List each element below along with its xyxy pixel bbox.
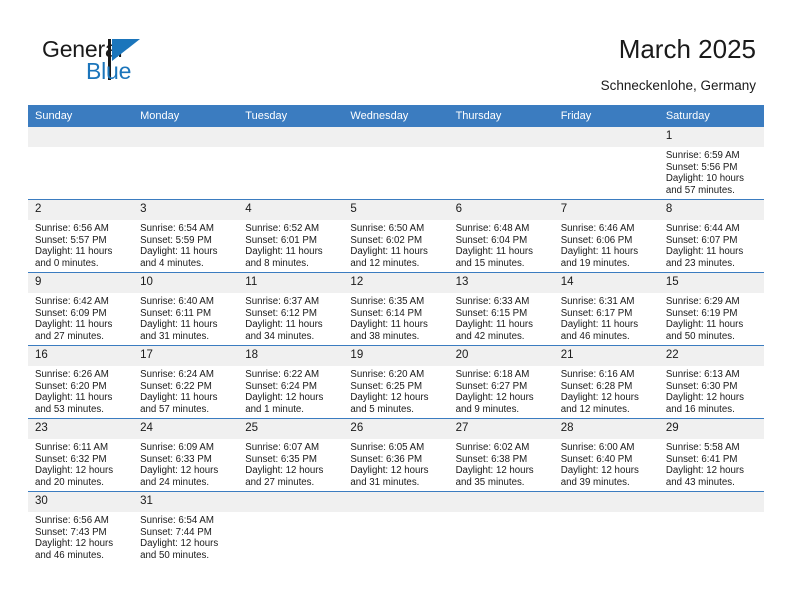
sunrise-time: Sunrise: 6:35 AM bbox=[350, 296, 442, 308]
day-sun-info: Sunrise: 6:16 AMSunset: 6:28 PMDaylight:… bbox=[554, 366, 659, 415]
day-sun-info: Sunrise: 6:24 AMSunset: 6:22 PMDaylight:… bbox=[133, 366, 238, 415]
daylight-duration-line2: and 31 minutes. bbox=[140, 331, 232, 343]
sunrise-time: Sunrise: 6:56 AM bbox=[35, 515, 127, 527]
day-number bbox=[449, 127, 554, 147]
sunrise-time: Sunrise: 6:54 AM bbox=[140, 515, 232, 527]
day-sun-info: Sunrise: 6:29 AMSunset: 6:19 PMDaylight:… bbox=[659, 293, 764, 342]
calendar-day-cell[interactable]: 15Sunrise: 6:29 AMSunset: 6:19 PMDayligh… bbox=[659, 273, 764, 346]
sunset-time: Sunset: 6:15 PM bbox=[456, 308, 548, 320]
daylight-duration-line2: and 24 minutes. bbox=[140, 477, 232, 489]
day-number: 4 bbox=[238, 200, 343, 220]
daylight-duration-line2: and 27 minutes. bbox=[245, 477, 337, 489]
day-number: 19 bbox=[343, 346, 448, 366]
sunset-time: Sunset: 6:35 PM bbox=[245, 454, 337, 466]
daylight-duration-line1: Daylight: 12 hours bbox=[561, 392, 653, 404]
calendar-empty-cell bbox=[449, 492, 554, 569]
sunset-time: Sunset: 7:44 PM bbox=[140, 527, 232, 539]
calendar-empty-cell bbox=[343, 127, 448, 200]
day-number: 1 bbox=[659, 127, 764, 147]
daylight-duration-line2: and 50 minutes. bbox=[666, 331, 758, 343]
sunrise-time: Sunrise: 6:42 AM bbox=[35, 296, 127, 308]
day-cell-inner: 6Sunrise: 6:48 AMSunset: 6:04 PMDaylight… bbox=[449, 200, 554, 272]
day-number: 21 bbox=[554, 346, 659, 366]
weekday-header-monday: Monday bbox=[133, 105, 238, 127]
daylight-duration-line2: and 34 minutes. bbox=[245, 331, 337, 343]
calendar-empty-cell bbox=[554, 127, 659, 200]
day-cell-inner bbox=[133, 127, 238, 199]
daylight-duration-line1: Daylight: 12 hours bbox=[666, 465, 758, 477]
day-cell-inner bbox=[343, 492, 448, 568]
daylight-duration-line2: and 9 minutes. bbox=[456, 404, 548, 416]
sunset-time: Sunset: 6:14 PM bbox=[350, 308, 442, 320]
sunset-time: Sunset: 6:36 PM bbox=[350, 454, 442, 466]
day-cell-inner: 26Sunrise: 6:05 AMSunset: 6:36 PMDayligh… bbox=[343, 419, 448, 491]
day-sun-info: Sunrise: 6:18 AMSunset: 6:27 PMDaylight:… bbox=[449, 366, 554, 415]
day-sun-info: Sunrise: 6:35 AMSunset: 6:14 PMDaylight:… bbox=[343, 293, 448, 342]
sunset-time: Sunset: 6:41 PM bbox=[666, 454, 758, 466]
daylight-duration-line1: Daylight: 12 hours bbox=[350, 392, 442, 404]
weekday-header-tuesday: Tuesday bbox=[238, 105, 343, 127]
calendar-day-cell[interactable]: 6Sunrise: 6:48 AMSunset: 6:04 PMDaylight… bbox=[449, 200, 554, 273]
sunrise-time: Sunrise: 6:00 AM bbox=[561, 442, 653, 454]
daylight-duration-line1: Daylight: 11 hours bbox=[140, 319, 232, 331]
calendar-day-cell[interactable]: 28Sunrise: 6:00 AMSunset: 6:40 PMDayligh… bbox=[554, 419, 659, 492]
calendar-day-cell[interactable]: 30Sunrise: 6:56 AMSunset: 7:43 PMDayligh… bbox=[28, 492, 133, 569]
sunrise-time: Sunrise: 6:37 AM bbox=[245, 296, 337, 308]
daylight-duration-line1: Daylight: 11 hours bbox=[35, 392, 127, 404]
sunrise-time: Sunrise: 6:11 AM bbox=[35, 442, 127, 454]
sunrise-time: Sunrise: 6:54 AM bbox=[140, 223, 232, 235]
day-cell-inner: 9Sunrise: 6:42 AMSunset: 6:09 PMDaylight… bbox=[28, 273, 133, 345]
day-sun-info: Sunrise: 6:56 AMSunset: 5:57 PMDaylight:… bbox=[28, 220, 133, 269]
day-sun-info: Sunrise: 6:11 AMSunset: 6:32 PMDaylight:… bbox=[28, 439, 133, 488]
day-cell-inner bbox=[238, 492, 343, 568]
calendar-day-cell[interactable]: 13Sunrise: 6:33 AMSunset: 6:15 PMDayligh… bbox=[449, 273, 554, 346]
calendar-empty-cell bbox=[554, 492, 659, 569]
calendar-empty-cell bbox=[238, 127, 343, 200]
daylight-duration-line2: and 20 minutes. bbox=[35, 477, 127, 489]
calendar-day-cell[interactable]: 5Sunrise: 6:50 AMSunset: 6:02 PMDaylight… bbox=[343, 200, 448, 273]
sunrise-time: Sunrise: 6:44 AM bbox=[666, 223, 758, 235]
sunrise-time: Sunrise: 6:29 AM bbox=[666, 296, 758, 308]
day-number: 17 bbox=[133, 346, 238, 366]
daylight-duration-line2: and 57 minutes. bbox=[140, 404, 232, 416]
day-number: 22 bbox=[659, 346, 764, 366]
day-sun-info: Sunrise: 6:37 AMSunset: 6:12 PMDaylight:… bbox=[238, 293, 343, 342]
daylight-duration-line1: Daylight: 11 hours bbox=[140, 392, 232, 404]
calendar-day-cell[interactable]: 10Sunrise: 6:40 AMSunset: 6:11 PMDayligh… bbox=[133, 273, 238, 346]
sunset-time: Sunset: 6:01 PM bbox=[245, 235, 337, 247]
sunset-time: Sunset: 6:32 PM bbox=[35, 454, 127, 466]
day-sun-info: Sunrise: 6:56 AMSunset: 7:43 PMDaylight:… bbox=[28, 512, 133, 561]
day-sun-info: Sunrise: 6:02 AMSunset: 6:38 PMDaylight:… bbox=[449, 439, 554, 488]
sunset-time: Sunset: 6:19 PM bbox=[666, 308, 758, 320]
day-number: 8 bbox=[659, 200, 764, 220]
daylight-duration-line1: Daylight: 12 hours bbox=[35, 538, 127, 550]
calendar-week-row: 16Sunrise: 6:26 AMSunset: 6:20 PMDayligh… bbox=[28, 346, 764, 419]
day-cell-inner bbox=[28, 127, 133, 199]
day-number: 7 bbox=[554, 200, 659, 220]
sunset-time: Sunset: 6:06 PM bbox=[561, 235, 653, 247]
day-number: 25 bbox=[238, 419, 343, 439]
day-cell-inner: 31Sunrise: 6:54 AMSunset: 7:44 PMDayligh… bbox=[133, 492, 238, 568]
daylight-duration-line2: and 57 minutes. bbox=[666, 185, 758, 197]
sunset-time: Sunset: 6:27 PM bbox=[456, 381, 548, 393]
daylight-duration-line1: Daylight: 12 hours bbox=[140, 538, 232, 550]
day-cell-inner: 7Sunrise: 6:46 AMSunset: 6:06 PMDaylight… bbox=[554, 200, 659, 272]
calendar-day-cell[interactable]: 7Sunrise: 6:46 AMSunset: 6:06 PMDaylight… bbox=[554, 200, 659, 273]
daylight-duration-line1: Daylight: 12 hours bbox=[456, 392, 548, 404]
calendar-day-cell[interactable]: 23Sunrise: 6:11 AMSunset: 6:32 PMDayligh… bbox=[28, 419, 133, 492]
weekday-header-wednesday: Wednesday bbox=[343, 105, 448, 127]
general-blue-logo[interactable]: General Blue bbox=[30, 36, 230, 92]
sunset-time: Sunset: 7:43 PM bbox=[35, 527, 127, 539]
day-cell-inner: 25Sunrise: 6:07 AMSunset: 6:35 PMDayligh… bbox=[238, 419, 343, 491]
daylight-duration-line1: Daylight: 11 hours bbox=[666, 246, 758, 258]
page-title: March 2025 bbox=[619, 34, 756, 64]
calendar-day-cell[interactable]: 26Sunrise: 6:05 AMSunset: 6:36 PMDayligh… bbox=[343, 419, 448, 492]
calendar-week-row: 2Sunrise: 6:56 AMSunset: 5:57 PMDaylight… bbox=[28, 200, 764, 273]
day-sun-info: Sunrise: 6:31 AMSunset: 6:17 PMDaylight:… bbox=[554, 293, 659, 342]
daylight-duration-line1: Daylight: 11 hours bbox=[561, 319, 653, 331]
day-number: 31 bbox=[133, 492, 238, 512]
day-sun-info: Sunrise: 6:05 AMSunset: 6:36 PMDaylight:… bbox=[343, 439, 448, 488]
day-cell-inner: 21Sunrise: 6:16 AMSunset: 6:28 PMDayligh… bbox=[554, 346, 659, 418]
day-cell-inner: 30Sunrise: 6:56 AMSunset: 7:43 PMDayligh… bbox=[28, 492, 133, 568]
day-number: 6 bbox=[449, 200, 554, 220]
daylight-duration-line1: Daylight: 11 hours bbox=[245, 319, 337, 331]
sunset-time: Sunset: 6:20 PM bbox=[35, 381, 127, 393]
day-sun-info: Sunrise: 6:09 AMSunset: 6:33 PMDaylight:… bbox=[133, 439, 238, 488]
day-cell-inner: 10Sunrise: 6:40 AMSunset: 6:11 PMDayligh… bbox=[133, 273, 238, 345]
day-number bbox=[343, 127, 448, 147]
sunrise-time: Sunrise: 6:46 AM bbox=[561, 223, 653, 235]
day-cell-inner bbox=[238, 127, 343, 199]
daylight-duration-line2: and 43 minutes. bbox=[666, 477, 758, 489]
sunrise-time: Sunrise: 6:07 AM bbox=[245, 442, 337, 454]
daylight-duration-line2: and 35 minutes. bbox=[456, 477, 548, 489]
day-number: 20 bbox=[449, 346, 554, 366]
day-cell-inner: 17Sunrise: 6:24 AMSunset: 6:22 PMDayligh… bbox=[133, 346, 238, 418]
daylight-duration-line2: and 23 minutes. bbox=[666, 258, 758, 270]
calendar-day-cell[interactable]: 4Sunrise: 6:52 AMSunset: 6:01 PMDaylight… bbox=[238, 200, 343, 273]
calendar-day-cell[interactable]: 21Sunrise: 6:16 AMSunset: 6:28 PMDayligh… bbox=[554, 346, 659, 419]
daylight-duration-line1: Daylight: 11 hours bbox=[35, 319, 127, 331]
daylight-duration-line2: and 39 minutes. bbox=[561, 477, 653, 489]
daylight-duration-line1: Daylight: 11 hours bbox=[35, 246, 127, 258]
sunrise-time: Sunrise: 6:26 AM bbox=[35, 369, 127, 381]
day-sun-info: Sunrise: 6:40 AMSunset: 6:11 PMDaylight:… bbox=[133, 293, 238, 342]
day-number: 30 bbox=[28, 492, 133, 512]
daylight-duration-line2: and 15 minutes. bbox=[456, 258, 548, 270]
day-number bbox=[238, 127, 343, 147]
daylight-duration-line1: Daylight: 12 hours bbox=[350, 465, 442, 477]
daylight-duration-line2: and 46 minutes. bbox=[561, 331, 653, 343]
daylight-duration-line1: Daylight: 11 hours bbox=[456, 319, 548, 331]
sunrise-time: Sunrise: 6:05 AM bbox=[350, 442, 442, 454]
day-sun-info: Sunrise: 6:46 AMSunset: 6:06 PMDaylight:… bbox=[554, 220, 659, 269]
calendar-day-cell[interactable]: 8Sunrise: 6:44 AMSunset: 6:07 PMDaylight… bbox=[659, 200, 764, 273]
weekday-header-sunday: Sunday bbox=[28, 105, 133, 127]
daylight-duration-line2: and 27 minutes. bbox=[35, 331, 127, 343]
sunset-time: Sunset: 6:04 PM bbox=[456, 235, 548, 247]
daylight-duration-line1: Daylight: 12 hours bbox=[245, 392, 337, 404]
calendar-empty-cell bbox=[133, 127, 238, 200]
sunset-time: Sunset: 6:12 PM bbox=[245, 308, 337, 320]
daylight-duration-line2: and 5 minutes. bbox=[350, 404, 442, 416]
daylight-duration-line2: and 16 minutes. bbox=[666, 404, 758, 416]
day-cell-inner: 4Sunrise: 6:52 AMSunset: 6:01 PMDaylight… bbox=[238, 200, 343, 272]
sunrise-time: Sunrise: 6:16 AM bbox=[561, 369, 653, 381]
day-number: 12 bbox=[343, 273, 448, 293]
daylight-duration-line1: Daylight: 11 hours bbox=[666, 319, 758, 331]
day-cell-inner bbox=[659, 492, 764, 568]
sunrise-time: Sunrise: 6:40 AM bbox=[140, 296, 232, 308]
day-number bbox=[449, 492, 554, 512]
daylight-duration-line1: Daylight: 12 hours bbox=[456, 465, 548, 477]
day-cell-inner: 28Sunrise: 6:00 AMSunset: 6:40 PMDayligh… bbox=[554, 419, 659, 491]
daylight-duration-line1: Daylight: 11 hours bbox=[350, 246, 442, 258]
calendar-day-cell[interactable]: 16Sunrise: 6:26 AMSunset: 6:20 PMDayligh… bbox=[28, 346, 133, 419]
calendar-page: General Blue March 2025 Schneckenlohe, G… bbox=[0, 0, 792, 612]
calendar-day-cell[interactable]: 19Sunrise: 6:20 AMSunset: 6:25 PMDayligh… bbox=[343, 346, 448, 419]
daylight-duration-line2: and 12 minutes. bbox=[350, 258, 442, 270]
calendar-day-cell[interactable]: 1Sunrise: 6:59 AMSunset: 5:56 PMDaylight… bbox=[659, 127, 764, 200]
daylight-duration-line1: Daylight: 12 hours bbox=[666, 392, 758, 404]
sunrise-sunset-calendar: Sunday Monday Tuesday Wednesday Thursday… bbox=[28, 105, 764, 568]
day-cell-inner: 23Sunrise: 6:11 AMSunset: 6:32 PMDayligh… bbox=[28, 419, 133, 491]
calendar-day-cell[interactable]: 29Sunrise: 5:58 AMSunset: 6:41 PMDayligh… bbox=[659, 419, 764, 492]
day-sun-info: Sunrise: 6:13 AMSunset: 6:30 PMDaylight:… bbox=[659, 366, 764, 415]
day-sun-info: Sunrise: 6:48 AMSunset: 6:04 PMDaylight:… bbox=[449, 220, 554, 269]
calendar-week-row: 9Sunrise: 6:42 AMSunset: 6:09 PMDaylight… bbox=[28, 273, 764, 346]
daylight-duration-line1: Daylight: 10 hours bbox=[666, 173, 758, 185]
day-number: 5 bbox=[343, 200, 448, 220]
sunset-time: Sunset: 6:28 PM bbox=[561, 381, 653, 393]
day-number: 3 bbox=[133, 200, 238, 220]
page-subtitle-location: Schneckenlohe, Germany bbox=[601, 78, 756, 94]
day-sun-info: Sunrise: 6:42 AMSunset: 6:09 PMDaylight:… bbox=[28, 293, 133, 342]
sunrise-time: Sunrise: 6:22 AM bbox=[245, 369, 337, 381]
calendar-day-cell[interactable]: 3Sunrise: 6:54 AMSunset: 5:59 PMDaylight… bbox=[133, 200, 238, 273]
calendar-empty-cell bbox=[28, 127, 133, 200]
day-number: 16 bbox=[28, 346, 133, 366]
daylight-duration-line2: and 53 minutes. bbox=[35, 404, 127, 416]
sunrise-time: Sunrise: 6:59 AM bbox=[666, 150, 758, 162]
day-number: 9 bbox=[28, 273, 133, 293]
daylight-duration-line2: and 38 minutes. bbox=[350, 331, 442, 343]
daylight-duration-line2: and 19 minutes. bbox=[561, 258, 653, 270]
day-sun-info: Sunrise: 6:26 AMSunset: 6:20 PMDaylight:… bbox=[28, 366, 133, 415]
sunset-time: Sunset: 6:17 PM bbox=[561, 308, 653, 320]
daylight-duration-line1: Daylight: 11 hours bbox=[245, 246, 337, 258]
day-sun-info: Sunrise: 6:54 AMSunset: 5:59 PMDaylight:… bbox=[133, 220, 238, 269]
day-sun-info: Sunrise: 6:54 AMSunset: 7:44 PMDaylight:… bbox=[133, 512, 238, 561]
sunrise-time: Sunrise: 6:52 AM bbox=[245, 223, 337, 235]
weekday-header-friday: Friday bbox=[554, 105, 659, 127]
day-cell-inner: 11Sunrise: 6:37 AMSunset: 6:12 PMDayligh… bbox=[238, 273, 343, 345]
day-number: 18 bbox=[238, 346, 343, 366]
day-number bbox=[343, 492, 448, 512]
day-cell-inner: 13Sunrise: 6:33 AMSunset: 6:15 PMDayligh… bbox=[449, 273, 554, 345]
daylight-duration-line1: Daylight: 12 hours bbox=[561, 465, 653, 477]
calendar-header-row: Sunday Monday Tuesday Wednesday Thursday… bbox=[28, 105, 764, 127]
day-sun-info: Sunrise: 5:58 AMSunset: 6:41 PMDaylight:… bbox=[659, 439, 764, 488]
sunrise-time: Sunrise: 6:56 AM bbox=[35, 223, 127, 235]
day-number: 13 bbox=[449, 273, 554, 293]
sunset-time: Sunset: 6:09 PM bbox=[35, 308, 127, 320]
day-number bbox=[659, 492, 764, 512]
day-cell-inner: 19Sunrise: 6:20 AMSunset: 6:25 PMDayligh… bbox=[343, 346, 448, 418]
sunrise-time: Sunrise: 6:33 AM bbox=[456, 296, 548, 308]
day-cell-inner: 14Sunrise: 6:31 AMSunset: 6:17 PMDayligh… bbox=[554, 273, 659, 345]
day-number: 11 bbox=[238, 273, 343, 293]
sunset-time: Sunset: 6:24 PM bbox=[245, 381, 337, 393]
day-cell-inner: 20Sunrise: 6:18 AMSunset: 6:27 PMDayligh… bbox=[449, 346, 554, 418]
calendar-day-cell[interactable]: 20Sunrise: 6:18 AMSunset: 6:27 PMDayligh… bbox=[449, 346, 554, 419]
sunset-time: Sunset: 6:11 PM bbox=[140, 308, 232, 320]
day-sun-info: Sunrise: 6:52 AMSunset: 6:01 PMDaylight:… bbox=[238, 220, 343, 269]
daylight-duration-line1: Daylight: 12 hours bbox=[245, 465, 337, 477]
daylight-duration-line1: Daylight: 12 hours bbox=[140, 465, 232, 477]
sunset-time: Sunset: 5:57 PM bbox=[35, 235, 127, 247]
calendar-day-cell[interactable]: 24Sunrise: 6:09 AMSunset: 6:33 PMDayligh… bbox=[133, 419, 238, 492]
day-sun-info: Sunrise: 6:50 AMSunset: 6:02 PMDaylight:… bbox=[343, 220, 448, 269]
day-number bbox=[28, 127, 133, 147]
day-number bbox=[133, 127, 238, 147]
sunrise-time: Sunrise: 6:31 AM bbox=[561, 296, 653, 308]
sunrise-time: Sunrise: 6:48 AM bbox=[456, 223, 548, 235]
day-number: 15 bbox=[659, 273, 764, 293]
sunrise-time: Sunrise: 6:24 AM bbox=[140, 369, 232, 381]
page-header: General Blue March 2025 Schneckenlohe, G… bbox=[0, 0, 792, 104]
day-cell-inner: 1Sunrise: 6:59 AMSunset: 5:56 PMDaylight… bbox=[659, 127, 764, 199]
day-cell-inner: 15Sunrise: 6:29 AMSunset: 6:19 PMDayligh… bbox=[659, 273, 764, 345]
sunrise-time: Sunrise: 6:18 AM bbox=[456, 369, 548, 381]
sunrise-time: Sunrise: 6:13 AM bbox=[666, 369, 758, 381]
day-cell-inner: 5Sunrise: 6:50 AMSunset: 6:02 PMDaylight… bbox=[343, 200, 448, 272]
calendar-body: 1Sunrise: 6:59 AMSunset: 5:56 PMDaylight… bbox=[28, 127, 764, 568]
daylight-duration-line2: and 0 minutes. bbox=[35, 258, 127, 270]
day-number bbox=[238, 492, 343, 512]
day-number: 27 bbox=[449, 419, 554, 439]
calendar-day-cell[interactable]: 9Sunrise: 6:42 AMSunset: 6:09 PMDaylight… bbox=[28, 273, 133, 346]
day-number: 26 bbox=[343, 419, 448, 439]
sunset-time: Sunset: 6:07 PM bbox=[666, 235, 758, 247]
day-cell-inner: 29Sunrise: 5:58 AMSunset: 6:41 PMDayligh… bbox=[659, 419, 764, 491]
daylight-duration-line1: Daylight: 11 hours bbox=[140, 246, 232, 258]
daylight-duration-line2: and 1 minute. bbox=[245, 404, 337, 416]
sunset-time: Sunset: 6:33 PM bbox=[140, 454, 232, 466]
calendar-empty-cell bbox=[343, 492, 448, 569]
daylight-duration-line1: Daylight: 11 hours bbox=[456, 246, 548, 258]
calendar-day-cell[interactable]: 12Sunrise: 6:35 AMSunset: 6:14 PMDayligh… bbox=[343, 273, 448, 346]
sunrise-time: Sunrise: 6:02 AM bbox=[456, 442, 548, 454]
sunset-time: Sunset: 6:30 PM bbox=[666, 381, 758, 393]
calendar-day-cell[interactable]: 14Sunrise: 6:31 AMSunset: 6:17 PMDayligh… bbox=[554, 273, 659, 346]
day-cell-inner: 2Sunrise: 6:56 AMSunset: 5:57 PMDaylight… bbox=[28, 200, 133, 272]
weekday-header-saturday: Saturday bbox=[659, 105, 764, 127]
sunrise-time: Sunrise: 6:50 AM bbox=[350, 223, 442, 235]
day-sun-info: Sunrise: 6:33 AMSunset: 6:15 PMDaylight:… bbox=[449, 293, 554, 342]
day-cell-inner bbox=[449, 127, 554, 199]
daylight-duration-line2: and 12 minutes. bbox=[561, 404, 653, 416]
day-sun-info: Sunrise: 6:20 AMSunset: 6:25 PMDaylight:… bbox=[343, 366, 448, 415]
day-cell-inner: 22Sunrise: 6:13 AMSunset: 6:30 PMDayligh… bbox=[659, 346, 764, 418]
daylight-duration-line2: and 31 minutes. bbox=[350, 477, 442, 489]
daylight-duration-line2: and 42 minutes. bbox=[456, 331, 548, 343]
day-cell-inner: 27Sunrise: 6:02 AMSunset: 6:38 PMDayligh… bbox=[449, 419, 554, 491]
day-number bbox=[554, 127, 659, 147]
day-number: 28 bbox=[554, 419, 659, 439]
calendar-day-cell[interactable]: 27Sunrise: 6:02 AMSunset: 6:38 PMDayligh… bbox=[449, 419, 554, 492]
daylight-duration-line1: Daylight: 11 hours bbox=[561, 246, 653, 258]
day-number bbox=[554, 492, 659, 512]
day-cell-inner: 24Sunrise: 6:09 AMSunset: 6:33 PMDayligh… bbox=[133, 419, 238, 491]
calendar-empty-cell bbox=[238, 492, 343, 569]
day-cell-inner bbox=[343, 127, 448, 199]
sunset-time: Sunset: 6:38 PM bbox=[456, 454, 548, 466]
day-cell-inner: 16Sunrise: 6:26 AMSunset: 6:20 PMDayligh… bbox=[28, 346, 133, 418]
sunrise-time: Sunrise: 6:20 AM bbox=[350, 369, 442, 381]
day-cell-inner bbox=[554, 127, 659, 199]
day-number: 24 bbox=[133, 419, 238, 439]
sunrise-time: Sunrise: 6:09 AM bbox=[140, 442, 232, 454]
sunset-time: Sunset: 5:59 PM bbox=[140, 235, 232, 247]
sunset-time: Sunset: 6:25 PM bbox=[350, 381, 442, 393]
day-cell-inner: 18Sunrise: 6:22 AMSunset: 6:24 PMDayligh… bbox=[238, 346, 343, 418]
day-sun-info: Sunrise: 6:00 AMSunset: 6:40 PMDaylight:… bbox=[554, 439, 659, 488]
daylight-duration-line2: and 50 minutes. bbox=[140, 550, 232, 562]
day-number: 14 bbox=[554, 273, 659, 293]
daylight-duration-line1: Daylight: 12 hours bbox=[35, 465, 127, 477]
day-number: 2 bbox=[28, 200, 133, 220]
day-cell-inner: 12Sunrise: 6:35 AMSunset: 6:14 PMDayligh… bbox=[343, 273, 448, 345]
day-number: 23 bbox=[28, 419, 133, 439]
daylight-duration-line2: and 8 minutes. bbox=[245, 258, 337, 270]
calendar-week-row: 30Sunrise: 6:56 AMSunset: 7:43 PMDayligh… bbox=[28, 492, 764, 569]
day-number: 10 bbox=[133, 273, 238, 293]
calendar-week-row: 23Sunrise: 6:11 AMSunset: 6:32 PMDayligh… bbox=[28, 419, 764, 492]
sunset-time: Sunset: 6:02 PM bbox=[350, 235, 442, 247]
sunset-time: Sunset: 5:56 PM bbox=[666, 162, 758, 174]
calendar-empty-cell bbox=[449, 127, 554, 200]
weekday-header-thursday: Thursday bbox=[449, 105, 554, 127]
logo-text-blue: Blue bbox=[86, 58, 131, 84]
day-cell-inner bbox=[554, 492, 659, 568]
day-sun-info: Sunrise: 6:44 AMSunset: 6:07 PMDaylight:… bbox=[659, 220, 764, 269]
calendar-day-cell[interactable]: 17Sunrise: 6:24 AMSunset: 6:22 PMDayligh… bbox=[133, 346, 238, 419]
day-sun-info: Sunrise: 6:22 AMSunset: 6:24 PMDaylight:… bbox=[238, 366, 343, 415]
day-cell-inner: 8Sunrise: 6:44 AMSunset: 6:07 PMDaylight… bbox=[659, 200, 764, 272]
day-cell-inner bbox=[449, 492, 554, 568]
calendar-day-cell[interactable]: 2Sunrise: 6:56 AMSunset: 5:57 PMDaylight… bbox=[28, 200, 133, 273]
calendar-day-cell[interactable]: 22Sunrise: 6:13 AMSunset: 6:30 PMDayligh… bbox=[659, 346, 764, 419]
day-number: 29 bbox=[659, 419, 764, 439]
daylight-duration-line2: and 4 minutes. bbox=[140, 258, 232, 270]
calendar-day-cell[interactable]: 18Sunrise: 6:22 AMSunset: 6:24 PMDayligh… bbox=[238, 346, 343, 419]
calendar-day-cell[interactable]: 11Sunrise: 6:37 AMSunset: 6:12 PMDayligh… bbox=[238, 273, 343, 346]
sunrise-time: Sunrise: 5:58 AM bbox=[666, 442, 758, 454]
calendar-week-row: 1Sunrise: 6:59 AMSunset: 5:56 PMDaylight… bbox=[28, 127, 764, 200]
calendar-day-cell[interactable]: 31Sunrise: 6:54 AMSunset: 7:44 PMDayligh… bbox=[133, 492, 238, 569]
day-sun-info: Sunrise: 6:59 AMSunset: 5:56 PMDaylight:… bbox=[659, 147, 764, 196]
sunset-time: Sunset: 6:22 PM bbox=[140, 381, 232, 393]
day-cell-inner: 3Sunrise: 6:54 AMSunset: 5:59 PMDaylight… bbox=[133, 200, 238, 272]
calendar-day-cell[interactable]: 25Sunrise: 6:07 AMSunset: 6:35 PMDayligh… bbox=[238, 419, 343, 492]
daylight-duration-line2: and 46 minutes. bbox=[35, 550, 127, 562]
day-sun-info: Sunrise: 6:07 AMSunset: 6:35 PMDaylight:… bbox=[238, 439, 343, 488]
